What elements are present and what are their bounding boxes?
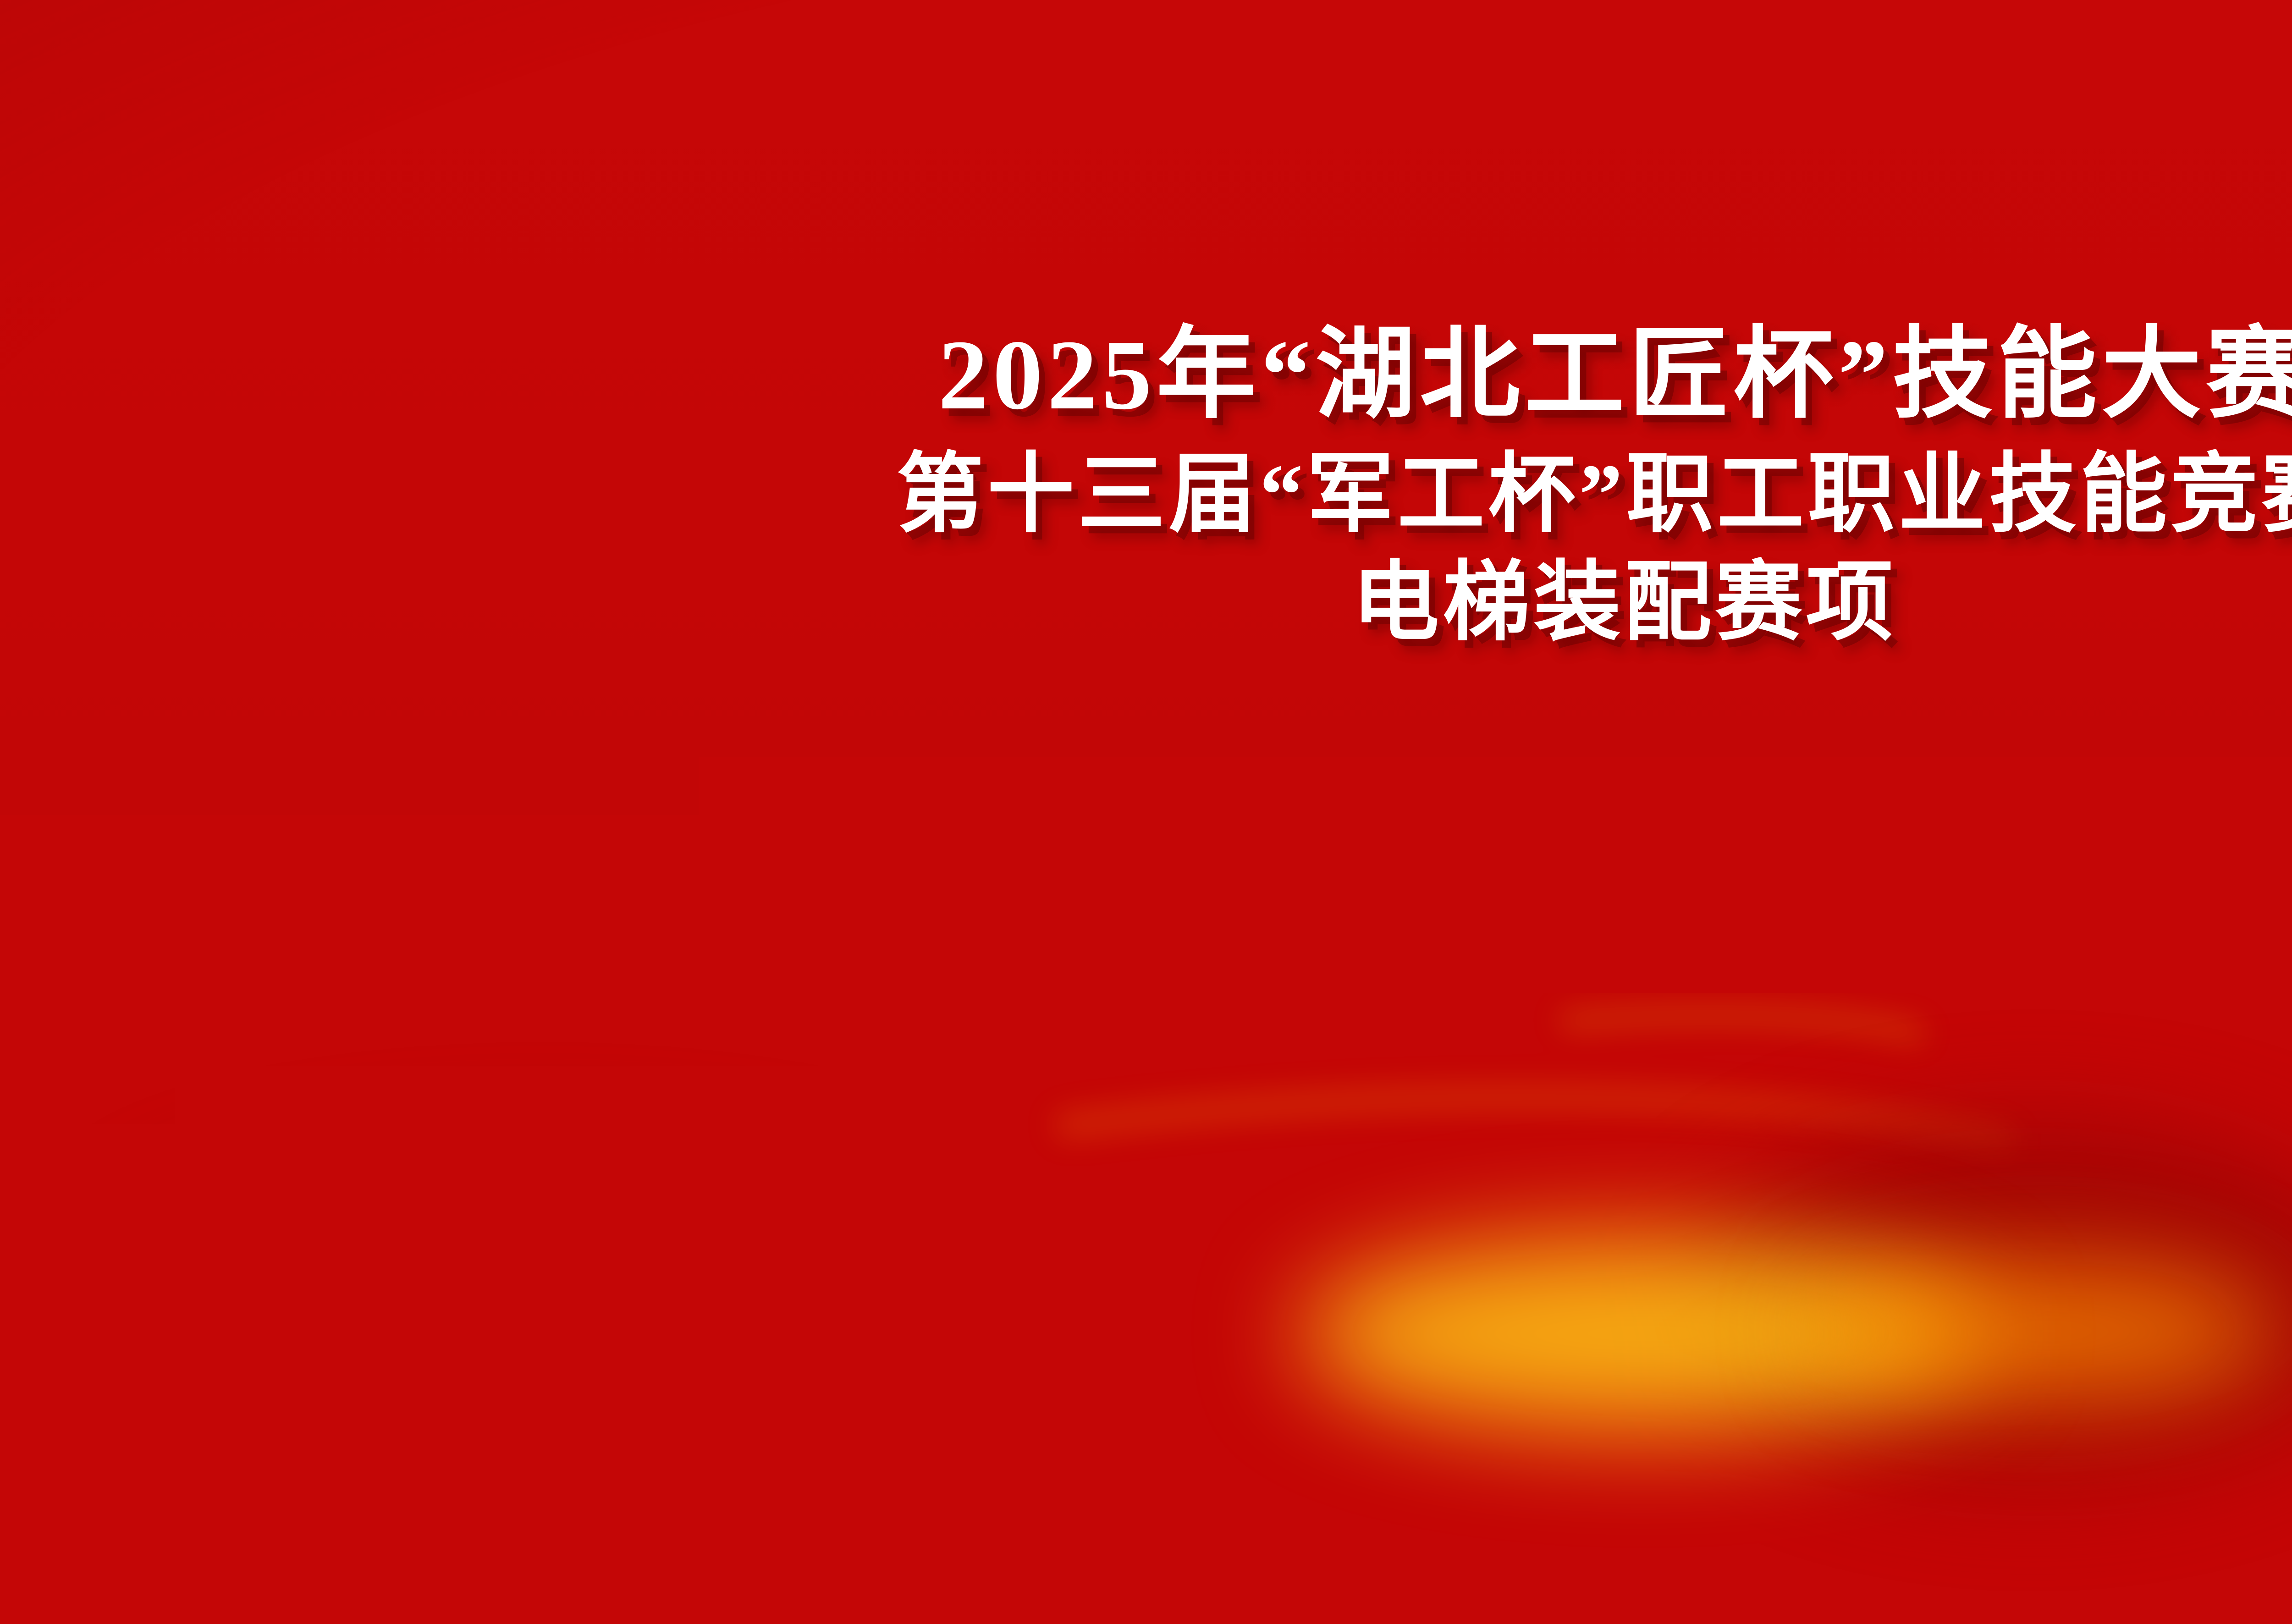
title-block: 2025年“湖北工匠杯”技能大赛 第十三届“军工杯”职工职业技能竞赛 电梯装配赛… [0, 316, 2292, 657]
organizers-block: 主办单位：湖北省国防科技工业办公室、湖北省人力资源和社会保障厅、湖北省总工会 承… [440, 990, 2292, 1216]
organizer-line-host: 主办单位：湖北省国防科技工业办公室、湖北省人力资源和社会保障厅、湖北省总工会 [440, 990, 2292, 1025]
organizer-line-undertaker: 承办单位：湖北省国防工会工作委员会 [440, 1085, 2292, 1120]
footer-date: 2025.11 [0, 1417, 2292, 1452]
poster-content: 2025年“湖北工匠杯”技能大赛 第十三届“军工杯”职工职业技能竞赛 电梯装配赛… [0, 0, 2292, 1624]
title-line-main: 2025年“湖北工匠杯”技能大赛 [0, 316, 2292, 434]
organizer-line-co-host: 协办单位：武汉外语外事职业学院、武汉燚进科技有限公司、杭州蔚来科教设备有限公司、… [440, 1181, 2292, 1216]
footer-block: 湖北·武汉 2025.11 [0, 1329, 2292, 1452]
title-line-secondary: 第十三届“军工杯”职工职业技能竞赛 [0, 442, 2292, 549]
title-line-event: 电梯装配赛项 [0, 551, 2292, 657]
footer-location: 湖北·武汉 [0, 1329, 2292, 1366]
competition-banner-poster: 2025年“湖北工匠杯”技能大赛 第十三届“军工杯”职工职业技能竞赛 电梯装配赛… [0, 0, 2292, 1624]
